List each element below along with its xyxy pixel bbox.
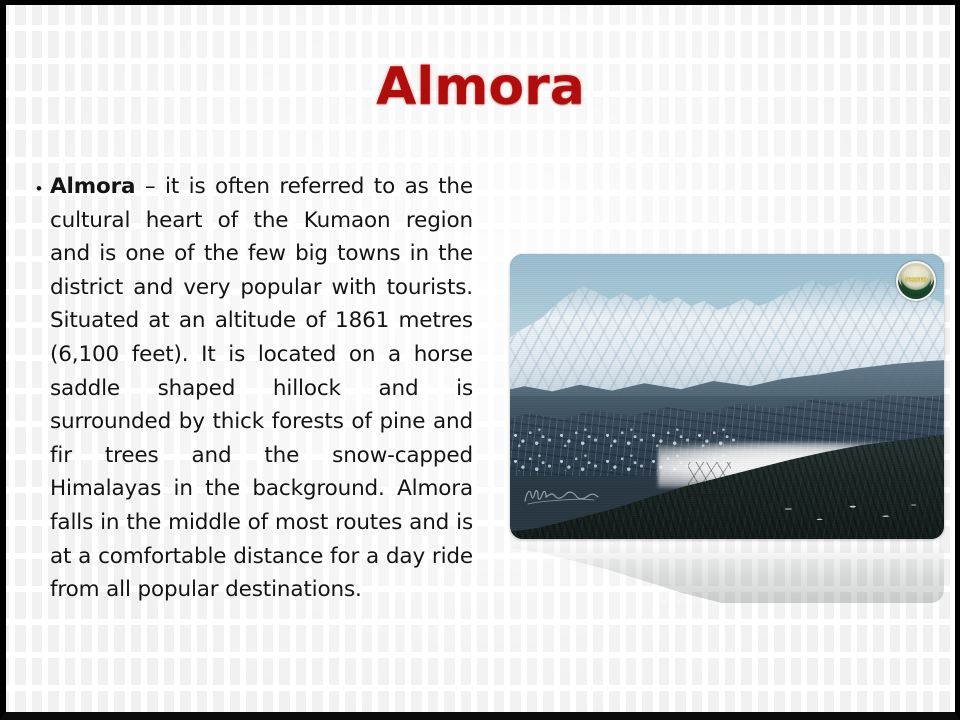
photo-brand-logo: PHOTO [896, 261, 936, 301]
bullet-icon: • [28, 170, 50, 206]
bullet-paragraph: Almora – it is often referred to as the … [50, 170, 473, 607]
slide-frame: Almora • Almora – it is often referred t… [0, 0, 960, 720]
photo-container: PHOTO [510, 254, 944, 539]
list-item: • Almora – it is often referred to as th… [28, 170, 473, 607]
lead-term: Almora [50, 174, 135, 199]
body-text: – it is often referred to as the cultura… [50, 174, 473, 602]
photo-bare-tree [688, 462, 731, 539]
himalaya-photo: PHOTO [510, 254, 944, 539]
slide-canvas: Almora • Almora – it is often referred t… [6, 5, 955, 712]
photo-brand-logo-text: PHOTO [898, 278, 934, 284]
body-content-block: • Almora – it is often referred to as th… [28, 170, 473, 607]
page-title: Almora [6, 57, 955, 117]
photo-hillside-houses [757, 493, 931, 533]
signature-watermark [522, 485, 600, 505]
